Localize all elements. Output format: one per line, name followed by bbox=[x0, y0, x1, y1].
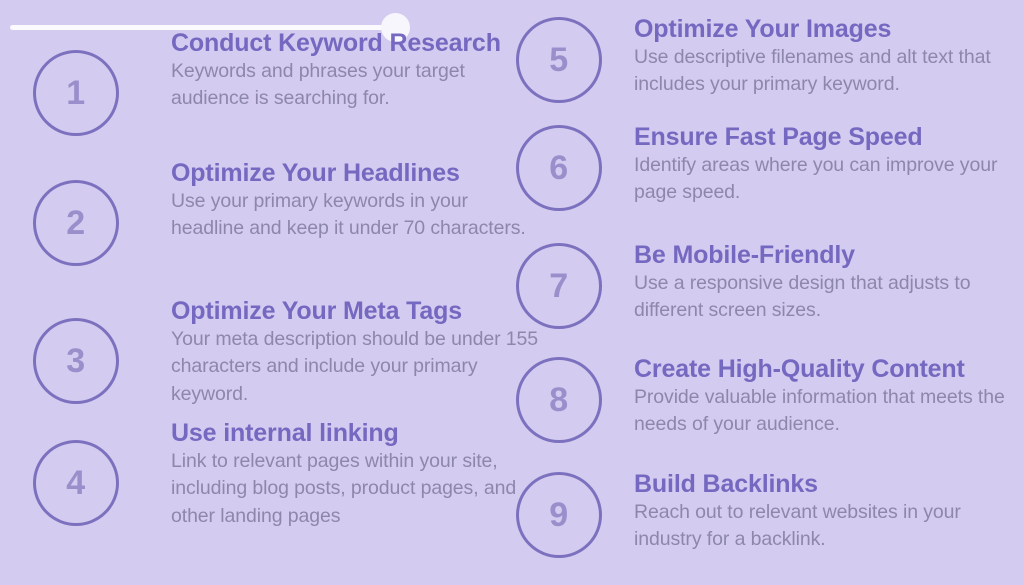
step-title-1: Conduct Keyword Research bbox=[171, 29, 543, 58]
step-title-2: Optimize Your Headlines bbox=[171, 159, 543, 188]
step-title-5: Optimize Your Images bbox=[634, 15, 1019, 44]
step-title-6: Ensure Fast Page Speed bbox=[634, 123, 1019, 152]
step-number-circle-4: 4 bbox=[33, 440, 119, 526]
right-column: 5 Optimize Your Images Use descriptive f… bbox=[505, 0, 1024, 585]
step-number-circle-8: 8 bbox=[516, 357, 602, 443]
step-number-circle-5: 5 bbox=[516, 17, 602, 103]
step-number-label-6: 6 bbox=[549, 151, 568, 185]
step-text-1: Conduct Keyword Research Keywords and ph… bbox=[171, 29, 543, 113]
step-text-3: Optimize Your Meta Tags Your meta descri… bbox=[171, 297, 549, 409]
step-description-3: Your meta description should be under 15… bbox=[171, 326, 549, 409]
step-description-2: Use your primary keywords in your headli… bbox=[171, 188, 543, 243]
step-title-3: Optimize Your Meta Tags bbox=[171, 297, 549, 326]
step-number-circle-3: 3 bbox=[33, 318, 119, 404]
step-number-label-3: 3 bbox=[66, 344, 85, 378]
step-text-2: Optimize Your Headlines Use your primary… bbox=[171, 159, 543, 243]
step-title-9: Build Backlinks bbox=[634, 470, 1019, 499]
step-description-5: Use descriptive filenames and alt text t… bbox=[634, 44, 1019, 99]
infographic-canvas: 1 Conduct Keyword Research Keywords and … bbox=[0, 0, 1024, 585]
step-description-7: Use a responsive design that adjusts to … bbox=[634, 270, 1019, 325]
step-number-label-2: 2 bbox=[66, 206, 85, 240]
step-title-7: Be Mobile-Friendly bbox=[634, 241, 1019, 270]
step-description-6: Identify areas where you can improve you… bbox=[634, 152, 1019, 207]
step-number-label-7: 7 bbox=[549, 269, 568, 303]
left-column: 1 Conduct Keyword Research Keywords and … bbox=[0, 0, 512, 585]
step-number-label-1: 1 bbox=[66, 76, 85, 110]
step-text-5: Optimize Your Images Use descriptive fil… bbox=[634, 15, 1019, 99]
step-title-4: Use internal linking bbox=[171, 419, 549, 448]
step-number-label-9: 9 bbox=[549, 498, 568, 532]
step-number-circle-6: 6 bbox=[516, 125, 602, 211]
step-text-4: Use internal linking Link to relevant pa… bbox=[171, 419, 549, 531]
step-description-9: Reach out to relevant websites in your i… bbox=[634, 499, 1019, 554]
step-text-9: Build Backlinks Reach out to relevant we… bbox=[634, 470, 1019, 554]
step-number-label-5: 5 bbox=[549, 43, 568, 77]
step-number-label-8: 8 bbox=[549, 383, 568, 417]
step-title-8: Create High-Quality Content bbox=[634, 355, 1024, 384]
step-description-1: Keywords and phrases your target audienc… bbox=[171, 58, 543, 113]
step-text-6: Ensure Fast Page Speed Identify areas wh… bbox=[634, 123, 1019, 207]
step-number-circle-7: 7 bbox=[516, 243, 602, 329]
step-number-circle-1: 1 bbox=[33, 50, 119, 136]
step-number-circle-2: 2 bbox=[33, 180, 119, 266]
step-text-7: Be Mobile-Friendly Use a responsive desi… bbox=[634, 241, 1019, 325]
step-description-8: Provide valuable information that meets … bbox=[634, 384, 1024, 439]
step-number-label-4: 4 bbox=[66, 466, 85, 500]
step-description-4: Link to relevant pages within your site,… bbox=[171, 448, 549, 531]
step-number-circle-9: 9 bbox=[516, 472, 602, 558]
step-text-8: Create High-Quality Content Provide valu… bbox=[634, 355, 1024, 439]
